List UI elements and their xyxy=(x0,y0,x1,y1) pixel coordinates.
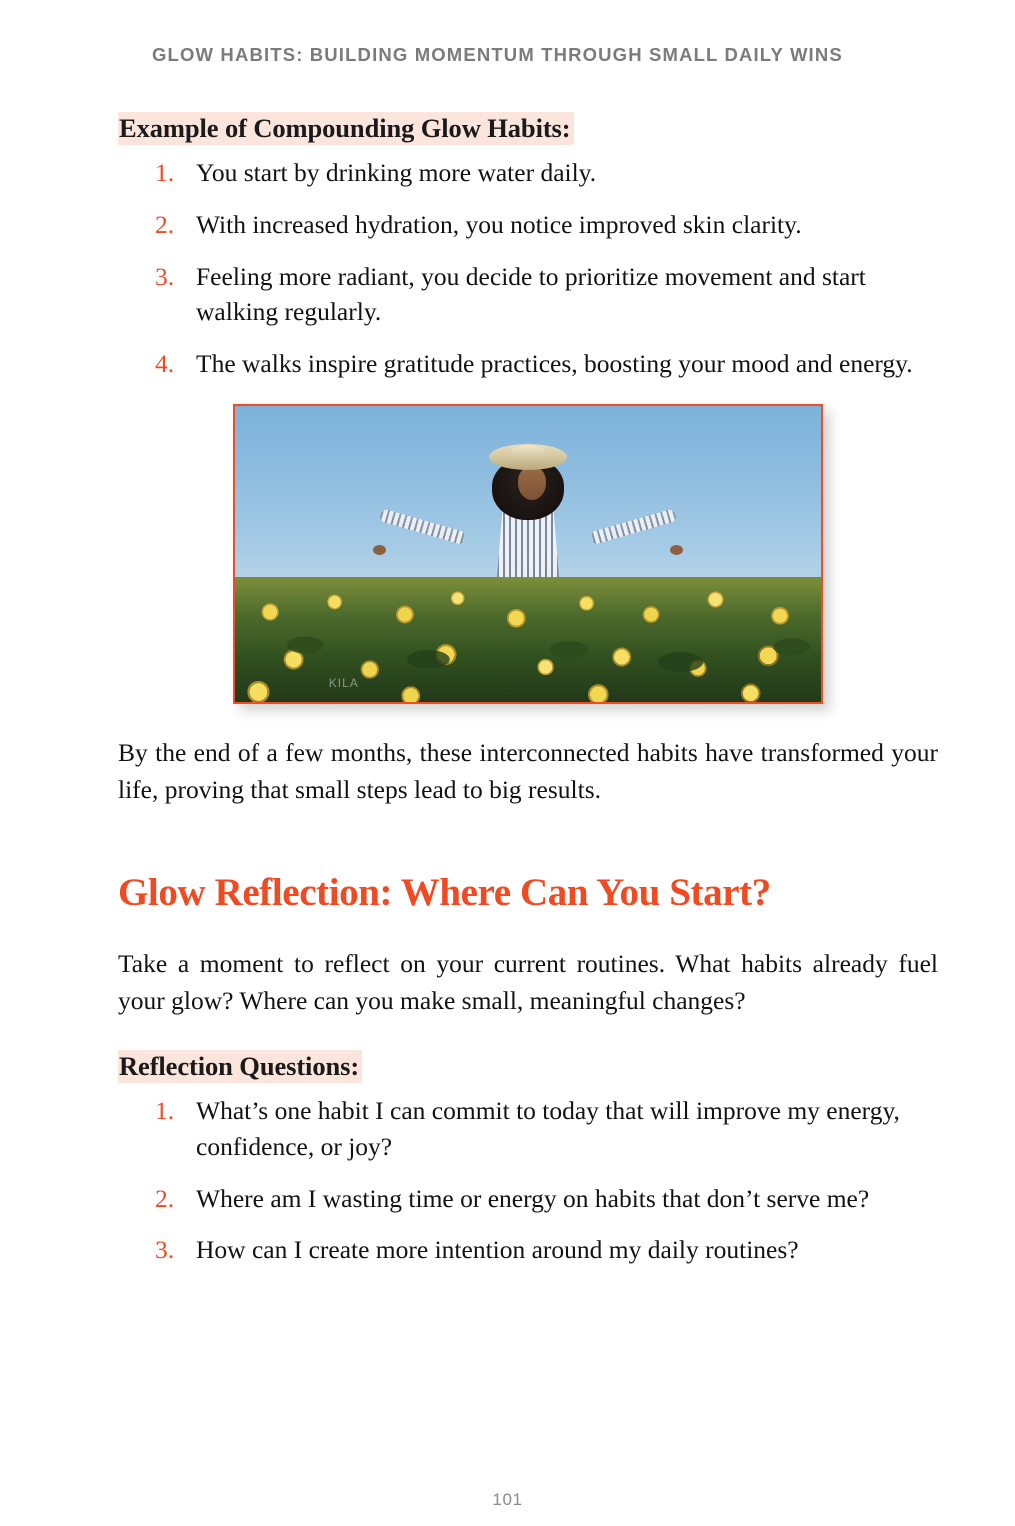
reflection-questions-list: What’s one habit I can commit to today t… xyxy=(118,1093,938,1268)
page-canvas: Glow Habits: Building Momentum Through S… xyxy=(0,0,1015,1526)
list-item: With increased hydration, you notice imp… xyxy=(118,207,938,243)
reflection-intro-paragraph: Take a moment to reflect on your current… xyxy=(118,945,938,1020)
foliage-leaves xyxy=(235,607,821,702)
figure-sunflower-field: KILA xyxy=(118,404,938,704)
list-item: You start by drinking more water daily. xyxy=(118,155,938,191)
photo-sunflower-woman: KILA xyxy=(235,406,821,702)
example-heading: Example of Compounding Glow Habits: xyxy=(118,112,574,145)
running-header: Glow Habits: Building Momentum Through S… xyxy=(152,44,912,66)
list-item: The walks inspire gratitude practices, b… xyxy=(118,346,938,382)
list-item: Where am I wasting time or energy on hab… xyxy=(118,1181,938,1217)
photo-watermark: KILA xyxy=(329,676,359,690)
straw-hat-crown xyxy=(511,445,545,460)
list-item: Feeling more radiant, you decide to prio… xyxy=(118,259,938,330)
hand-right xyxy=(670,545,683,555)
example-heading-wrap: Example of Compounding Glow Habits: xyxy=(118,112,938,145)
photo-frame: KILA xyxy=(233,404,823,704)
reflection-questions-heading-wrap: Reflection Questions: xyxy=(118,1050,938,1083)
closing-paragraph: By the end of a few months, these interc… xyxy=(118,734,938,809)
page-number: 101 xyxy=(0,1490,1015,1510)
arm-left xyxy=(379,508,465,544)
page-content: Example of Compounding Glow Habits: You … xyxy=(118,112,938,1268)
reflection-questions-heading: Reflection Questions: xyxy=(118,1050,362,1083)
list-item: What’s one habit I can commit to today t… xyxy=(118,1093,938,1164)
section-heading-glow-reflection: Glow Reflection: Where Can You Start? xyxy=(118,871,938,915)
list-item: How can I create more intention around m… xyxy=(118,1232,938,1268)
compounding-habits-list: You start by drinking more water daily. … xyxy=(118,155,938,381)
hand-left xyxy=(373,545,386,555)
face xyxy=(518,466,546,500)
arm-right xyxy=(591,508,677,544)
